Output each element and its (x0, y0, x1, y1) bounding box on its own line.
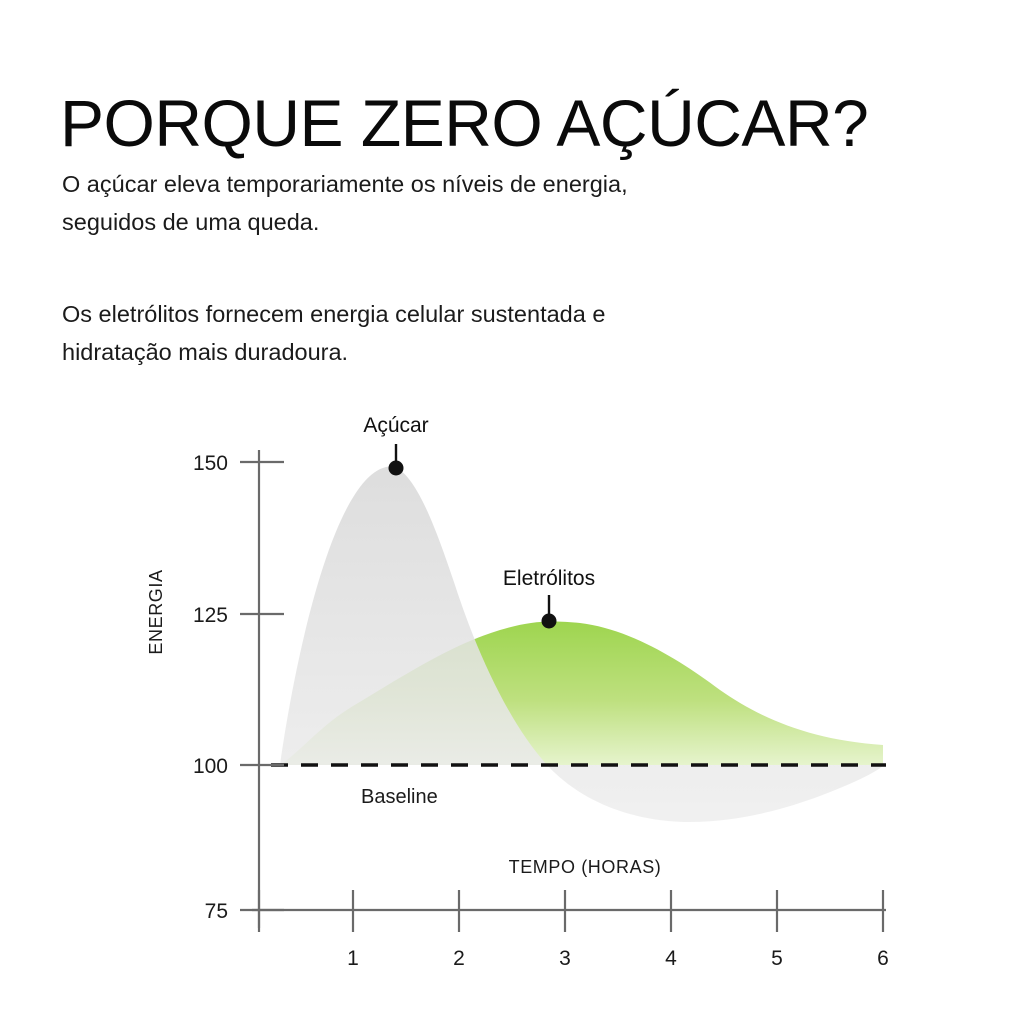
y-tick-label-100: 100 (193, 755, 228, 778)
x-axis-title: TEMPO (HORAS) (509, 857, 662, 877)
baseline-label: Baseline (361, 786, 438, 808)
x-tick-label-5: 5 (771, 947, 783, 970)
x-tick-label-4: 4 (665, 947, 677, 970)
y-tick-label-125: 125 (193, 604, 228, 627)
x-tick-label-2: 2 (453, 947, 465, 970)
y-tick-label-150: 150 (193, 452, 228, 475)
x-tick-label-1: 1 (347, 947, 359, 970)
eletrolitos-series-label: Eletrólitos (503, 567, 595, 590)
eletrolitos-peak-marker (542, 614, 557, 629)
y-axis-ticks (240, 462, 284, 910)
annotation-acucar: Açúcar (363, 414, 428, 476)
y-tick-label-75: 75 (205, 900, 228, 923)
x-tick-label-6: 6 (877, 947, 889, 970)
y-axis-title: ENERGIA (146, 569, 166, 654)
x-tick-label-3: 3 (559, 947, 571, 970)
acucar-peak-marker (389, 461, 404, 476)
annotation-eletrolitos: Eletrólitos (503, 567, 595, 629)
energy-chart: 150 125 100 75 ENERGIA 1 2 3 4 5 6 (0, 0, 1024, 1024)
acucar-series-label: Açúcar (363, 414, 428, 437)
energy-chart-svg: 150 125 100 75 ENERGIA 1 2 3 4 5 6 (0, 0, 1024, 1024)
poster-canvas: PORQUE ZERO AÇÚCAR? O açúcar eleva tempo… (0, 0, 1024, 1024)
